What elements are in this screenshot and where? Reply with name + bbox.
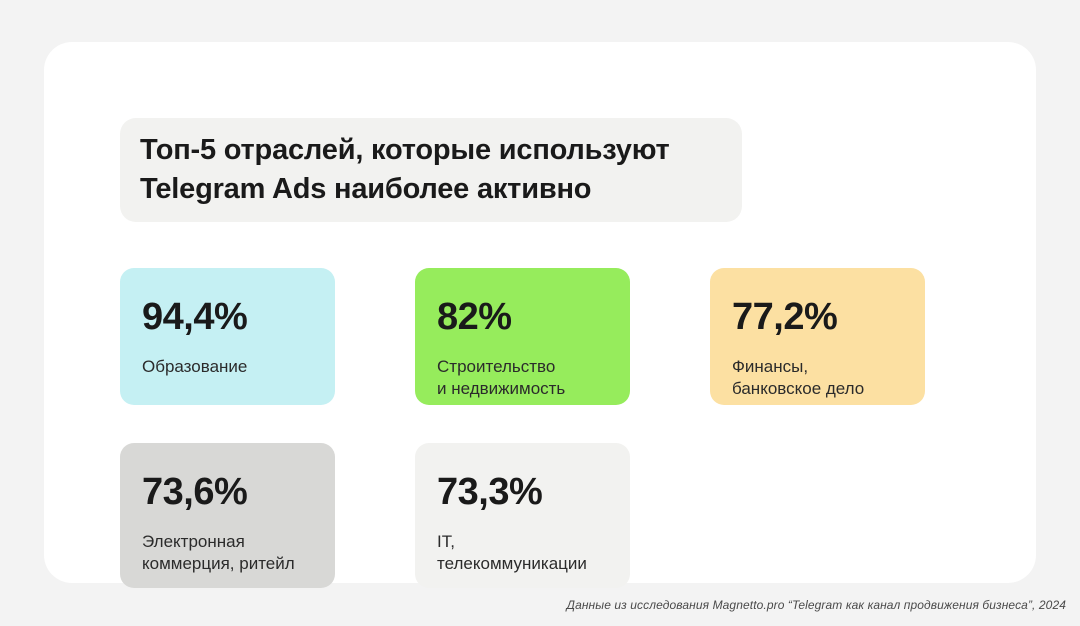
- stat-card-it: 73,3% IT, телекоммуникации: [415, 443, 630, 588]
- stat-card-construction: 82% Строительство и недвижимость: [415, 268, 630, 405]
- stat-label: Финансы, банковское дело: [732, 356, 903, 401]
- stat-value: 73,3%: [437, 473, 608, 511]
- stat-value: 73,6%: [142, 473, 313, 511]
- content-panel: Топ-5 отраслей, которые используют Teleg…: [44, 42, 1036, 583]
- stat-label: Образование: [142, 356, 313, 378]
- stat-card-ecommerce: 73,6% Электронная коммерция, ритейл: [120, 443, 335, 588]
- source-attribution: Данные из исследования Magnetto.pro “Tel…: [567, 598, 1066, 612]
- stat-label: IT, телекоммуникации: [437, 531, 608, 576]
- stat-card-education: 94,4% Образование: [120, 268, 335, 405]
- stat-cards-row-bottom: 73,6% Электронная коммерция, ритейл 73,3…: [120, 443, 926, 588]
- stat-cards-grid: 94,4% Образование 82% Строительство и не…: [120, 268, 926, 588]
- stat-cards-row-top: 94,4% Образование 82% Строительство и не…: [120, 268, 926, 405]
- stat-value: 77,2%: [732, 298, 903, 336]
- stat-value: 82%: [437, 298, 608, 336]
- stat-label: Электронная коммерция, ритейл: [142, 531, 313, 576]
- stat-value: 94,4%: [142, 298, 313, 336]
- title-chip: Топ-5 отраслей, которые используют Teleg…: [120, 118, 742, 222]
- stat-label: Строительство и недвижимость: [437, 356, 608, 401]
- page-title: Топ-5 отраслей, которые используют Teleg…: [120, 131, 670, 208]
- stat-card-finance: 77,2% Финансы, банковское дело: [710, 268, 925, 405]
